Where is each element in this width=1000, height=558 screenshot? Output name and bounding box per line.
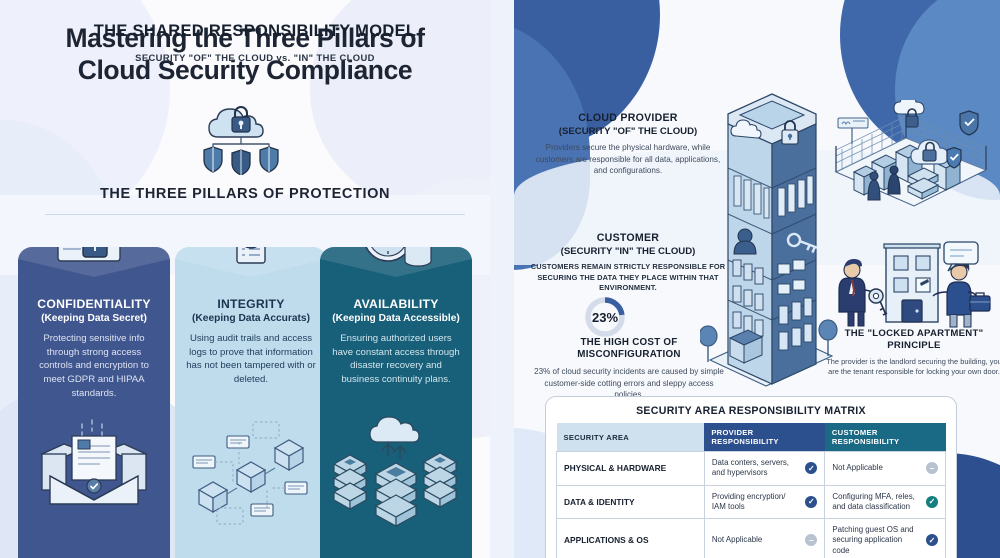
cloud-provider-block: CLOUD PROVIDER (SECURITY "OF" THE CLOUD)… [528,112,728,176]
locked-apartment-block: THE "LOCKED APARTMENT" PRINCIPLE The pro… [826,328,1000,378]
matrix-header-row: SECURITY AREA PROVIDER RESPONSIBILITY CU… [557,423,946,452]
customer-body: CUSTOMERS REMAIN STRICTLY RESPONSIBLE FO… [528,262,728,293]
not-applicable-icon: – [926,462,938,474]
matrix-customer-cell: Patching guest OS and securing applicati… [825,519,946,558]
matrix-provider-text: Not Applicable [712,535,762,545]
pillar-integrity[interactable]: INTEGRITY (Keeping Data Accurats) Using … [175,247,327,558]
section-divider-line [45,214,465,215]
panel-divider [490,0,514,558]
matrix-col-customer: CUSTOMER RESPONSIBILITY [825,423,946,452]
matrix-customer-text: Configuring MFA, reles, and data classif… [832,492,921,513]
pillar-text: INTEGRITY (Keeping Data Accurats) Using … [175,297,327,387]
pillars-group: CONFIDENTIALITY (Keeping Data Secret) Pr… [0,247,490,558]
locked-apartment-heading-line2: PRINCIPLE [826,340,1000,352]
check-icon: ✓ [805,462,817,474]
matrix-area: APPLICATIONS & OS [557,519,705,558]
document-checkmark-calendar-icon [207,247,295,271]
right-panel-subtitle: SECURITY "OF" THE CLOUD vs. "IN" THE CLO… [20,52,490,63]
matrix-provider-text: Data conters, servers, and hypervisors [712,458,801,479]
table-row: PHYSICAL & HARDWARE Data conters, server… [557,452,946,486]
matrix-customer-text: Patching guest OS and securing applicati… [832,525,921,556]
customer-heading: CUSTOMER [528,232,728,245]
matrix-area: DATA & IDENTITY [557,485,705,519]
blockchain-cubes-logs-icon [181,412,321,532]
locked-apartment-body: The provider is the landlord securing th… [826,357,1000,378]
browser-window-lock-icon [50,247,138,271]
pillar-description: Ensuring authorized users have constant … [331,332,461,386]
clock-database-icon [352,247,440,271]
cloud-lock-shield-check-icon [905,132,965,176]
cloud-provider-body: Providers secure the physical hardware, … [528,142,728,176]
pillar-title: AVAILABILITY [331,297,461,312]
cloud-lock-shields-icon [188,103,302,175]
responsibility-matrix: SECURITY AREA RESPONSIBILITY MATRIX SECU… [545,396,957,558]
pillar-text: CONFIDENTIALITY (Keeping Data Secret) Pr… [18,297,170,400]
pillar-subtitle: (Keeping Data Secret) [29,313,159,324]
high-cost-heading-line1: THE HIGH COST OF [534,337,724,349]
table-row: DATA & IDENTITY Providing encryption/ IA… [557,485,946,519]
infographic-canvas: Mastering the Three Pillars of Cloud Sec… [0,0,1000,558]
pillar-confidentiality[interactable]: CONFIDENTIALITY (Keeping Data Secret) Pr… [18,247,170,558]
envelopes-documents-icon [24,412,164,532]
high-cost-block: THE HIGH COST OF MISCONFIGURATION 23% of… [534,337,724,400]
pillar-title: INTEGRITY [186,297,316,312]
matrix-area: PHYSICAL & HARDWARE [557,452,705,486]
not-applicable-icon: – [805,534,817,546]
pillar-description: Using audit trails and access logs to pr… [186,332,316,386]
matrix-provider-text: Providing encryption/ IAM tools [712,492,801,513]
check-icon: ✓ [926,496,938,508]
matrix-title: SECURITY AREA RESPONSIBILITY MATRIX [556,405,946,417]
check-icon: ✓ [805,496,817,508]
matrix-provider-cell: Data conters, servers, and hypervisors ✓ [704,452,825,486]
pillar-subtitle: (Keeping Data Accurats) [186,313,316,324]
pillar-title: CONFIDENTIALITY [29,297,159,312]
cloud-provider-subheading: (SECURITY "OF" THE CLOUD) [528,126,728,137]
pillar-description: Protecting sensitive info through strong… [29,332,159,400]
cloud-provider-heading: CLOUD PROVIDER [528,112,728,125]
check-icon: ✓ [926,534,938,546]
pillar-text: AVAILABILITY (Keeping Data Accessible) E… [320,297,472,387]
matrix-table: SECURITY AREA PROVIDER RESPONSIBILITY CU… [556,423,946,558]
matrix-col-provider: PROVIDER RESPONSIBILITY [704,423,825,452]
matrix-provider-cell: Not Applicable – [704,519,825,558]
server-stack-cloud-icon [326,412,466,532]
donut-value-label: 23% [583,295,627,339]
section-subtitle: THE THREE PILLARS OF PROTECTION [0,186,490,202]
locked-apartment-heading-line1: THE "LOCKED APARTMENT" [826,328,1000,340]
high-cost-heading-line2: MISCONFIGURATION [534,349,724,361]
landlord-tenant-key-handoff-icon [824,238,1000,330]
pillar-subtitle: (Keeping Data Accessible) [331,313,461,324]
matrix-customer-cell: Configuring MFA, reles, and data classif… [825,485,946,519]
left-panel: Mastering the Three Pillars of Cloud Sec… [0,0,490,558]
customer-subheading: (SECURITY "IN" THE CLOUD) [528,246,728,257]
matrix-customer-text: Not Applicable [832,463,882,473]
matrix-head: SECURITY AREA PROVIDER RESPONSIBILITY CU… [557,423,946,452]
customer-block: CUSTOMER (SECURITY "IN" THE CLOUD) CUSTO… [528,232,728,293]
table-row: APPLICATIONS & OS Not Applicable – Patch… [557,519,946,558]
pillar-availability[interactable]: AVAILABILITY (Keeping Data Accessible) E… [320,247,472,558]
matrix-col-security-area: SECURITY AREA [557,423,705,452]
right-panel-title: THE SHARED RESPONSIBILITY MODEL [20,22,490,41]
matrix-provider-cell: Providing encryption/ IAM tools ✓ [704,485,825,519]
matrix-body: PHYSICAL & HARDWARE Data conters, server… [557,452,946,558]
matrix-customer-cell: Not Applicable – [825,452,946,486]
